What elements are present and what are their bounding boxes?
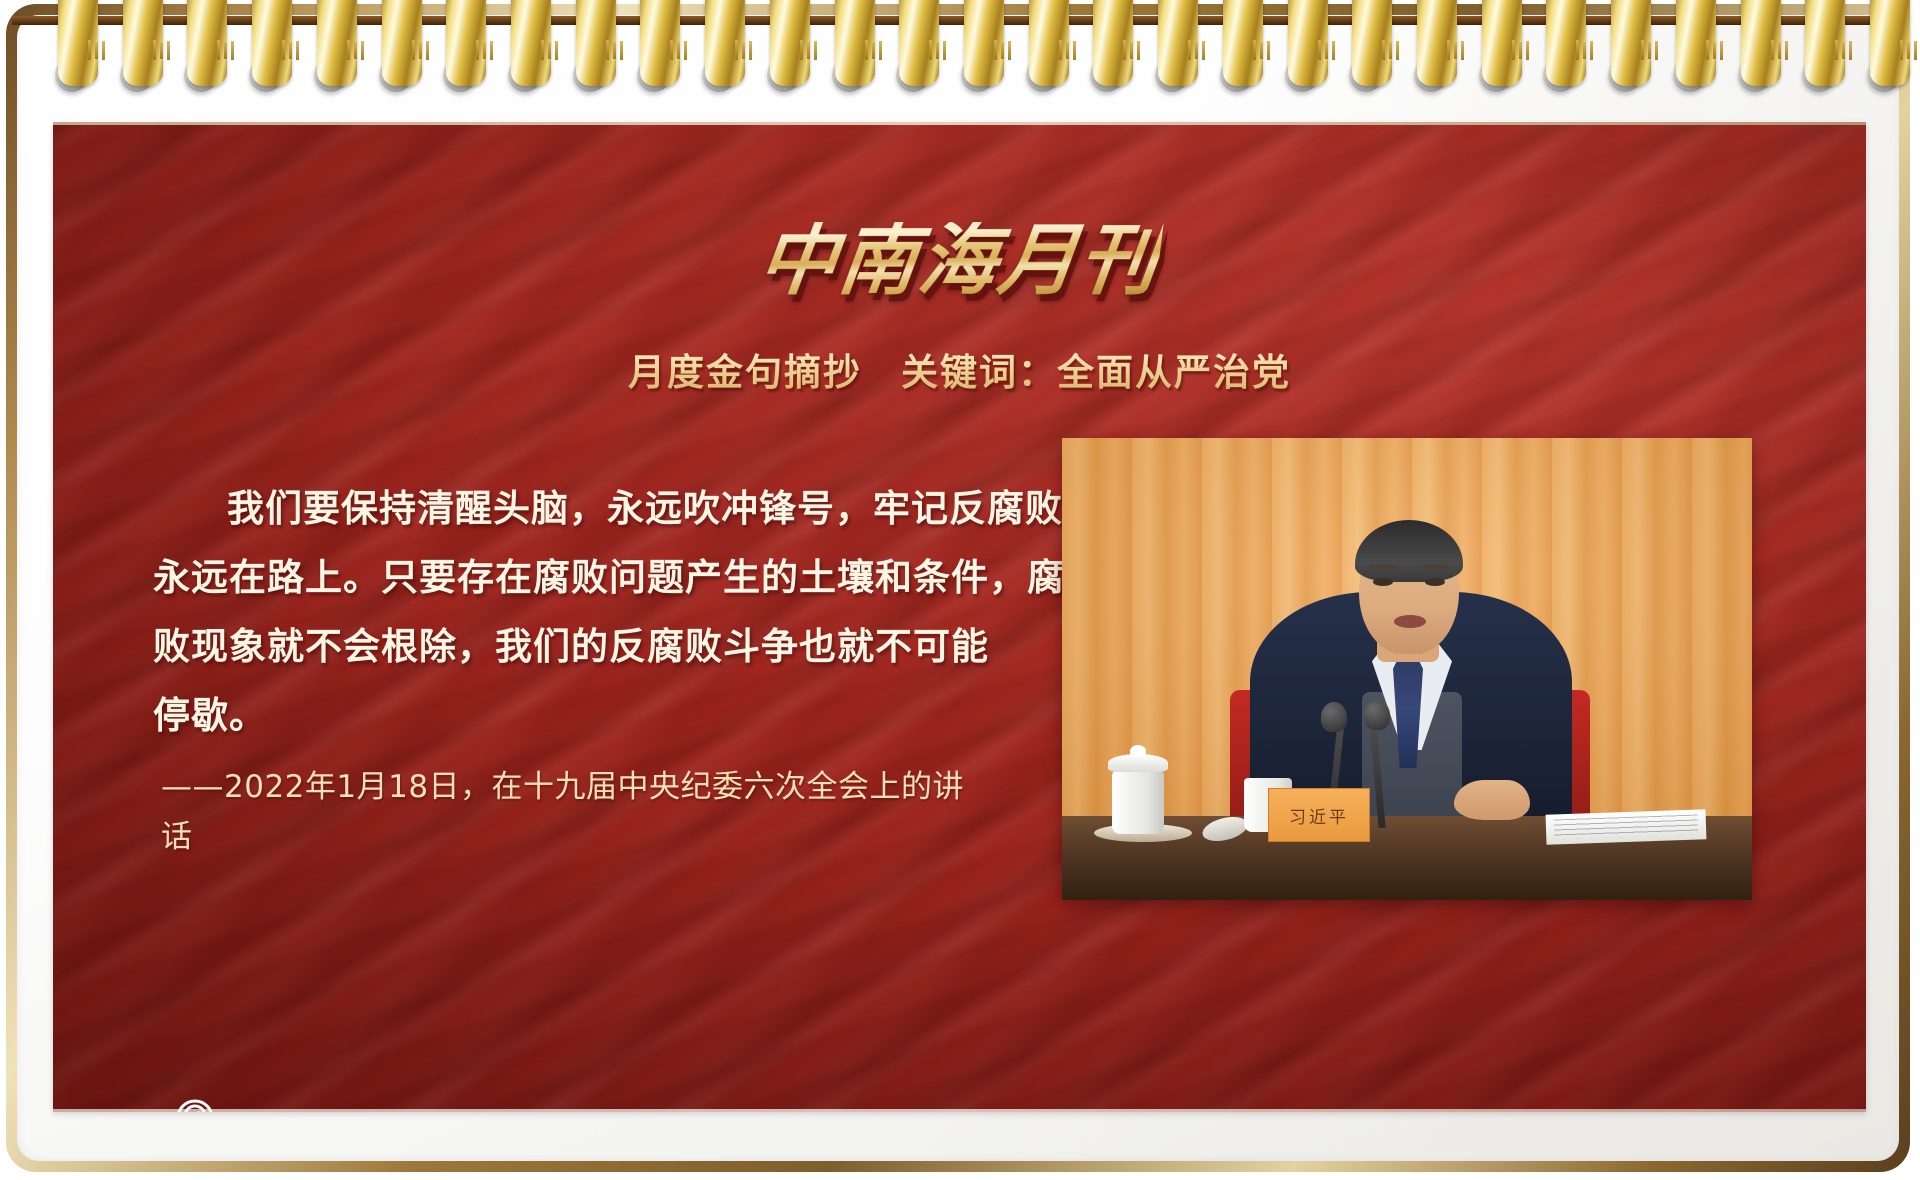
photo-subject-brow-right xyxy=(1422,565,1448,570)
photo-subject-mouth xyxy=(1394,615,1426,628)
desk-papers xyxy=(1546,809,1707,845)
photo-subject-eye-left xyxy=(1373,578,1393,586)
publication-subtitle: 月度金句摘抄 关键词：全面从严治党 xyxy=(53,342,1866,396)
teacup-lid-knob xyxy=(1130,745,1146,757)
title-container: 中南海月刊 xyxy=(53,222,1866,300)
quote-attribution: ——2022年1月18日，在十九届中央纪委六次全会上的讲话 xyxy=(161,762,981,862)
card-bottom-highlight xyxy=(53,1109,1866,1112)
photo-subject-brow-left xyxy=(1370,565,1396,570)
tap-hand-icon[interactable] xyxy=(161,1090,235,1112)
quote-line: 败现象就不会根除，我们的反腐败斗争也就不可能 xyxy=(153,612,1033,681)
binding-tick xyxy=(1914,41,1917,60)
quote-block: 我们要保持清醒头脑，永远吹冲锋号，牢记反腐败 永远在路上。只要存在腐败问题产生的… xyxy=(153,474,1033,750)
desk-nameplate: 习近平 xyxy=(1268,788,1370,842)
teacup xyxy=(1112,770,1164,834)
publication-title: 中南海月刊 xyxy=(755,222,1165,300)
card-top-highlight xyxy=(53,122,1866,125)
microphone-head-right xyxy=(1364,700,1390,730)
photo-subject-eye-right xyxy=(1425,578,1445,586)
photo-subject-hand xyxy=(1454,780,1530,820)
desk-papers-lines xyxy=(1554,814,1699,839)
leader-photo: 习近平 xyxy=(1062,438,1752,900)
quote-line: 停歇。 xyxy=(153,681,1033,750)
quote-line: 永远在路上。只要存在腐败问题产生的土壤和条件，腐 xyxy=(153,543,1033,612)
microphone-head-left xyxy=(1321,702,1347,732)
quote-line: 我们要保持清醒头脑，永远吹冲锋号，牢记反腐败 xyxy=(153,474,1033,543)
nameplate-text: 习近平 xyxy=(1289,803,1349,828)
notebook-page: 中南海月刊 月度金句摘抄 关键词：全面从严治党 我们要保持清醒头脑，永远吹冲锋号… xyxy=(0,0,1920,1180)
content-card: 中南海月刊 月度金句摘抄 关键词：全面从严治党 我们要保持清醒头脑，永远吹冲锋号… xyxy=(53,122,1866,1112)
